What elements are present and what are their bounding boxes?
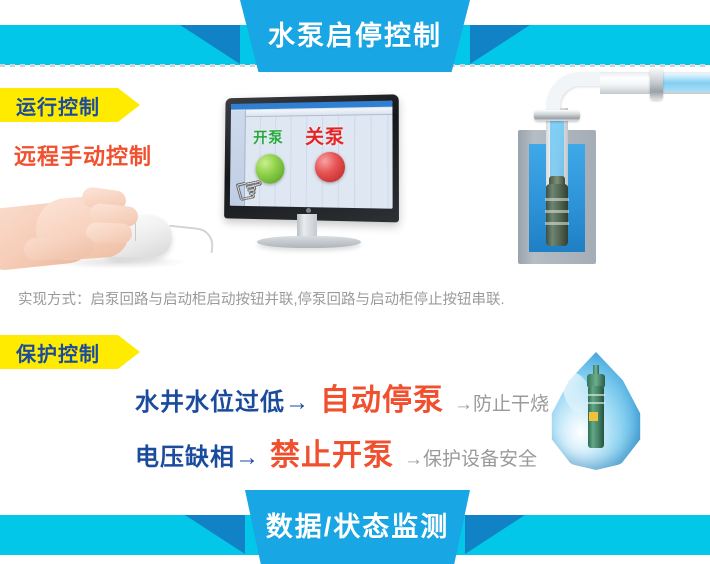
thumb bbox=[23, 235, 94, 261]
pump-ring-3 bbox=[545, 222, 569, 225]
drop-pump-ring-2 bbox=[587, 402, 605, 404]
protection-rule-action: 禁止开泵 bbox=[270, 430, 394, 474]
protection-rule-row: 水井水位过低→ 自动停泵 →防止干烧 bbox=[135, 375, 549, 419]
pipe-flange-vertical bbox=[534, 110, 580, 121]
bottom-banner-title: 数据/状态监测 bbox=[245, 490, 470, 564]
screen-label-start-pump: 开泵 bbox=[253, 126, 284, 147]
section-tag-protection-control: 保护控制 bbox=[0, 335, 118, 369]
drop-pump-nameplate bbox=[589, 412, 598, 421]
monitor-screen: 开泵 关泵 ☞ bbox=[230, 101, 393, 209]
drop-pump-ring-1 bbox=[587, 394, 605, 396]
protection-rule-condition: 电压缺相→ bbox=[135, 437, 260, 472]
section-tag-run-control-label: 运行控制 bbox=[16, 91, 100, 120]
protection-rule-condition: 水井水位过低→ bbox=[135, 382, 310, 417]
bottom-banner-fold-right bbox=[465, 515, 525, 554]
subtitle-remote-manual-control: 远程手动控制 bbox=[14, 139, 152, 171]
discharge-pipe-transparent-section bbox=[662, 74, 710, 92]
submersible-pump-body bbox=[546, 184, 568, 246]
section-tag-run-control: 运行控制 bbox=[0, 88, 118, 122]
water-drop-pump-illustration bbox=[540, 348, 655, 480]
monitor-bezel: 开泵 关泵 ☞ bbox=[224, 94, 399, 222]
well-pump-illustration bbox=[490, 62, 710, 272]
hand-on-mouse-illustration bbox=[0, 175, 190, 280]
mouse-cable bbox=[167, 225, 215, 254]
pump-ring-2 bbox=[545, 210, 569, 213]
top-banner-fold-left bbox=[180, 25, 240, 64]
top-banner-title: 水泵启停控制 bbox=[240, 0, 470, 72]
protection-rule-result: →防止干烧 bbox=[454, 389, 549, 416]
pump-ring-1 bbox=[545, 198, 569, 201]
desktop-monitor-illustration: 开泵 关泵 ☞ bbox=[213, 96, 405, 261]
section-tag-protection-control-label: 保护控制 bbox=[16, 338, 100, 367]
screen-button-stop-pump[interactable] bbox=[315, 152, 345, 182]
protection-rule-row: 电压缺相→ 禁止开泵 →保护设备安全 bbox=[135, 430, 537, 474]
hand-cursor-icon: ☞ bbox=[233, 171, 268, 209]
monitor-stand-base bbox=[257, 236, 361, 248]
monitor-logo-dot bbox=[306, 208, 311, 213]
top-banner-fold-right bbox=[470, 25, 530, 64]
protection-rule-action: 自动停泵 bbox=[320, 375, 444, 419]
implementation-note: 实现方式：启泵回路与启动柜启动按钮并联,停泵回路与启动柜停止按钮串联. bbox=[18, 288, 505, 309]
pipe-flange-horizontal bbox=[650, 67, 663, 100]
protection-rule-result: →保护设备安全 bbox=[404, 444, 537, 471]
bottom-banner-fold-left bbox=[185, 515, 245, 554]
screen-label-stop-pump: 关泵 bbox=[305, 122, 345, 149]
infographic-page: 水泵启停控制 运行控制 远程手动控制 开泵 关泵 ☞ bbox=[0, 0, 710, 564]
bottom-banner: 数据/状态监测 bbox=[0, 490, 710, 564]
